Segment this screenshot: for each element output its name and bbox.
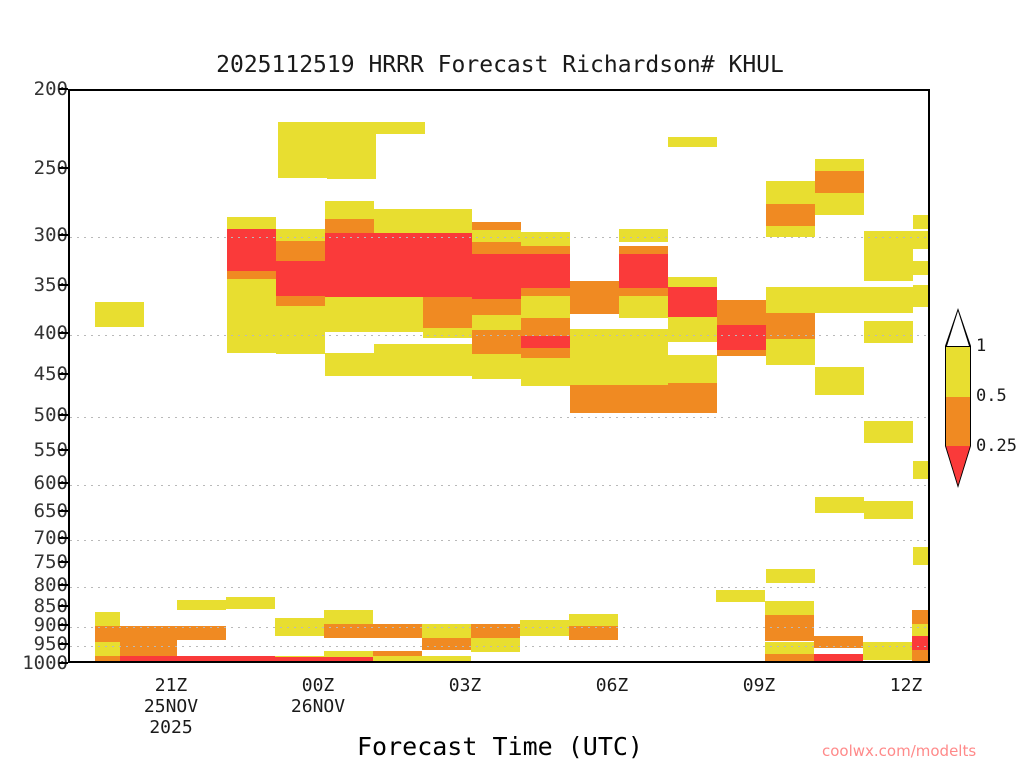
heatmap-cell [423, 209, 472, 233]
heatmap-cell [276, 229, 325, 241]
heatmap-cell [521, 296, 570, 318]
heatmap-cell [913, 461, 930, 479]
heatmap-cell [815, 193, 864, 215]
y-tick-mark [59, 167, 68, 169]
heatmap-cell [227, 279, 276, 353]
heatmap-cell [570, 329, 619, 359]
heatmap-cell [422, 656, 471, 661]
heatmap-cell [227, 217, 276, 229]
heatmap-cell [177, 600, 226, 610]
colorbar-over-fill [947, 311, 969, 346]
heatmap-cell [423, 233, 472, 297]
y-tick-mark [59, 662, 68, 664]
y-tick-mark [59, 584, 68, 586]
y-tick-mark [59, 332, 68, 334]
colorbar-tick-label: 1 [976, 336, 986, 356]
x-tick-label: 03Z [405, 675, 525, 696]
heatmap-cell [619, 254, 668, 288]
heatmap-cell [913, 261, 930, 275]
heatmap-cell [766, 569, 815, 583]
heatmap-cell [619, 359, 668, 385]
heatmap-cell [864, 321, 913, 343]
colorbar-tick-label: 0.5 [976, 386, 1007, 406]
heatmap-cell [423, 297, 472, 328]
heatmap-cell [376, 122, 425, 134]
heatmap-cell [423, 344, 472, 376]
heatmap-cell [815, 171, 864, 193]
heatmap-cell [815, 367, 864, 395]
heatmap-cell [472, 242, 521, 254]
heatmap-cell [864, 259, 913, 281]
heatmap-cell [766, 287, 815, 313]
heatmap-cell [912, 610, 930, 624]
heatmap-cell [325, 233, 374, 297]
page-title: 2025112519 HRRR Forecast Richardson# KHU… [0, 52, 1000, 78]
heatmap-cell [521, 348, 570, 358]
heatmap-cell [864, 421, 913, 443]
heatmap-cell [95, 642, 120, 656]
x-tick-label: 12Z [846, 675, 966, 696]
heatmap-cell [520, 620, 569, 636]
heatmap-cell [814, 636, 863, 648]
heatmap-cell [668, 287, 717, 317]
heatmap-cell [766, 181, 815, 204]
heatmap-cell [766, 204, 815, 226]
heatmap-cell [276, 306, 325, 354]
heatmap-cell [373, 624, 422, 638]
chart-root: 2025112519 HRRR Forecast Richardson# KHU… [0, 0, 1024, 768]
heatmap-cell [423, 328, 472, 338]
heatmap-cell [521, 358, 570, 386]
heatmap-cell [765, 601, 814, 615]
heatmap-cell [472, 354, 521, 379]
heatmap-cell [913, 285, 930, 307]
heatmap-cell [374, 297, 423, 332]
heatmap-cell [325, 353, 374, 376]
colorbar-body [945, 346, 971, 446]
heatmap-cell [276, 241, 325, 261]
heatmap-cell [324, 610, 373, 624]
heatmap-cell [276, 261, 325, 296]
x-tick-label: 21Z25NOV2025 [111, 675, 231, 738]
heatmap-cell [668, 383, 717, 413]
colorbar-under-fill [946, 446, 970, 485]
heatmap-cell [276, 296, 325, 306]
y-tick-mark [59, 284, 68, 286]
heatmap-cell [374, 344, 423, 376]
heatmap-cell [472, 315, 521, 330]
colorbar-legend: 10.50.25 [940, 308, 1020, 488]
heatmap-cell [95, 302, 144, 327]
heatmap-cell [913, 547, 930, 565]
heatmap-cell [226, 597, 275, 609]
heatmap-cell [619, 385, 668, 413]
heatmap-cell [471, 624, 520, 638]
heatmap-cell [227, 229, 276, 271]
heatmap-cell [472, 342, 521, 354]
heatmap-cell [912, 636, 930, 650]
y-tick-mark [59, 414, 68, 416]
y-tick-mark [59, 449, 68, 451]
heatmap-cell [570, 359, 619, 385]
heatmap-cell [521, 288, 570, 296]
heatmap-cell [766, 226, 815, 237]
heatmap-cell [716, 590, 765, 602]
y-tick-mark [59, 482, 68, 484]
heatmap-cell [619, 229, 668, 242]
y-axis: 2002503003504004505005506006507007508008… [0, 89, 68, 663]
heatmap-cell [570, 289, 619, 314]
heatmap-cell [278, 122, 327, 178]
heatmap-cell [814, 654, 863, 662]
heatmap-cell [913, 231, 930, 249]
heatmap-cell [226, 656, 275, 662]
y-tick-mark [59, 605, 68, 607]
heatmap-cell [177, 626, 226, 640]
heatmap-cell [120, 626, 177, 656]
heatmap-cell [619, 296, 668, 318]
heatmap-cell [864, 287, 913, 313]
heatmap-cell [472, 222, 521, 230]
heatmap-cell [275, 657, 324, 662]
heatmap-cell [422, 638, 471, 650]
heatmap-cell [472, 330, 521, 342]
x-tick-label: 06Z [552, 675, 672, 696]
heatmap-cell [227, 271, 276, 279]
heatmap-cell [765, 642, 814, 654]
heatmap-cell [570, 281, 619, 289]
heatmap-cell [912, 650, 930, 662]
heatmap-cell [864, 501, 913, 519]
x-tick-label: 09Z [699, 675, 819, 696]
heatmap-cell [327, 122, 376, 147]
heatmap-cell [766, 339, 815, 365]
heatmap-cell [766, 313, 815, 339]
heatmap-cell [717, 300, 766, 325]
heatmap-cell [275, 618, 324, 636]
heatmap-cell [521, 318, 570, 336]
heatmap-cell [324, 657, 373, 662]
heatmap-cell [325, 201, 374, 219]
heatmap-cell [668, 137, 717, 147]
heatmap-cell [374, 233, 423, 297]
heatmap-cell [619, 246, 668, 254]
heatmap-cell [472, 299, 521, 315]
heatmap-cell [521, 254, 570, 288]
heatmap-cell [327, 147, 376, 179]
watermark: coolwx.com/modelts [822, 742, 976, 760]
y-axis-ticks [59, 89, 68, 663]
heatmap-cell [422, 624, 471, 638]
heatmap-cell [863, 642, 912, 660]
colorbar-segment-yellow [946, 347, 970, 397]
heatmap-cells [70, 91, 928, 661]
heatmap-cell [668, 355, 717, 383]
plot-area [68, 89, 930, 663]
heatmap-cell [177, 656, 226, 662]
heatmap-cell [815, 497, 864, 513]
heatmap-cell [471, 638, 520, 652]
heatmap-cell [913, 215, 930, 229]
y-tick-mark [59, 510, 68, 512]
y-tick-mark [59, 561, 68, 563]
heatmap-cell [619, 329, 668, 359]
heatmap-cell [619, 288, 668, 296]
heatmap-cell [521, 246, 570, 254]
heatmap-cell [864, 231, 913, 259]
heatmap-cell [815, 159, 864, 171]
heatmap-cell [324, 624, 373, 638]
heatmap-cell [472, 254, 521, 299]
y-tick-mark [59, 643, 68, 645]
y-tick-mark [59, 373, 68, 375]
y-tick-mark [59, 234, 68, 236]
y-tick-mark [59, 88, 68, 90]
heatmap-cell [815, 287, 864, 313]
heatmap-cell [717, 350, 766, 356]
heatmap-cell [668, 277, 717, 287]
heatmap-cell [569, 626, 618, 640]
heatmap-cell [570, 385, 619, 413]
heatmap-cell [120, 656, 177, 663]
heatmap-cell [668, 317, 717, 342]
heatmap-cell [374, 209, 423, 233]
heatmap-cell [912, 624, 930, 636]
x-tick-label: 00Z26NOV [258, 675, 378, 717]
heatmap-cell [95, 626, 120, 642]
heatmap-cell [95, 656, 120, 663]
heatmap-cell [765, 615, 814, 641]
y-tick-mark [59, 537, 68, 539]
heatmap-cell [325, 297, 374, 332]
colorbar-tick-label: 0.25 [976, 436, 1017, 456]
heatmap-cell [521, 232, 570, 246]
y-tick-mark [59, 624, 68, 626]
heatmap-cell [521, 336, 570, 348]
colorbar-segment-orange [946, 397, 970, 447]
heatmap-cell [95, 612, 120, 626]
heatmap-cell [472, 230, 521, 242]
heatmap-cell [373, 656, 422, 662]
heatmap-cell [717, 325, 766, 350]
heatmap-cell [765, 654, 814, 662]
heatmap-cell [325, 219, 374, 233]
heatmap-cell [569, 614, 618, 626]
